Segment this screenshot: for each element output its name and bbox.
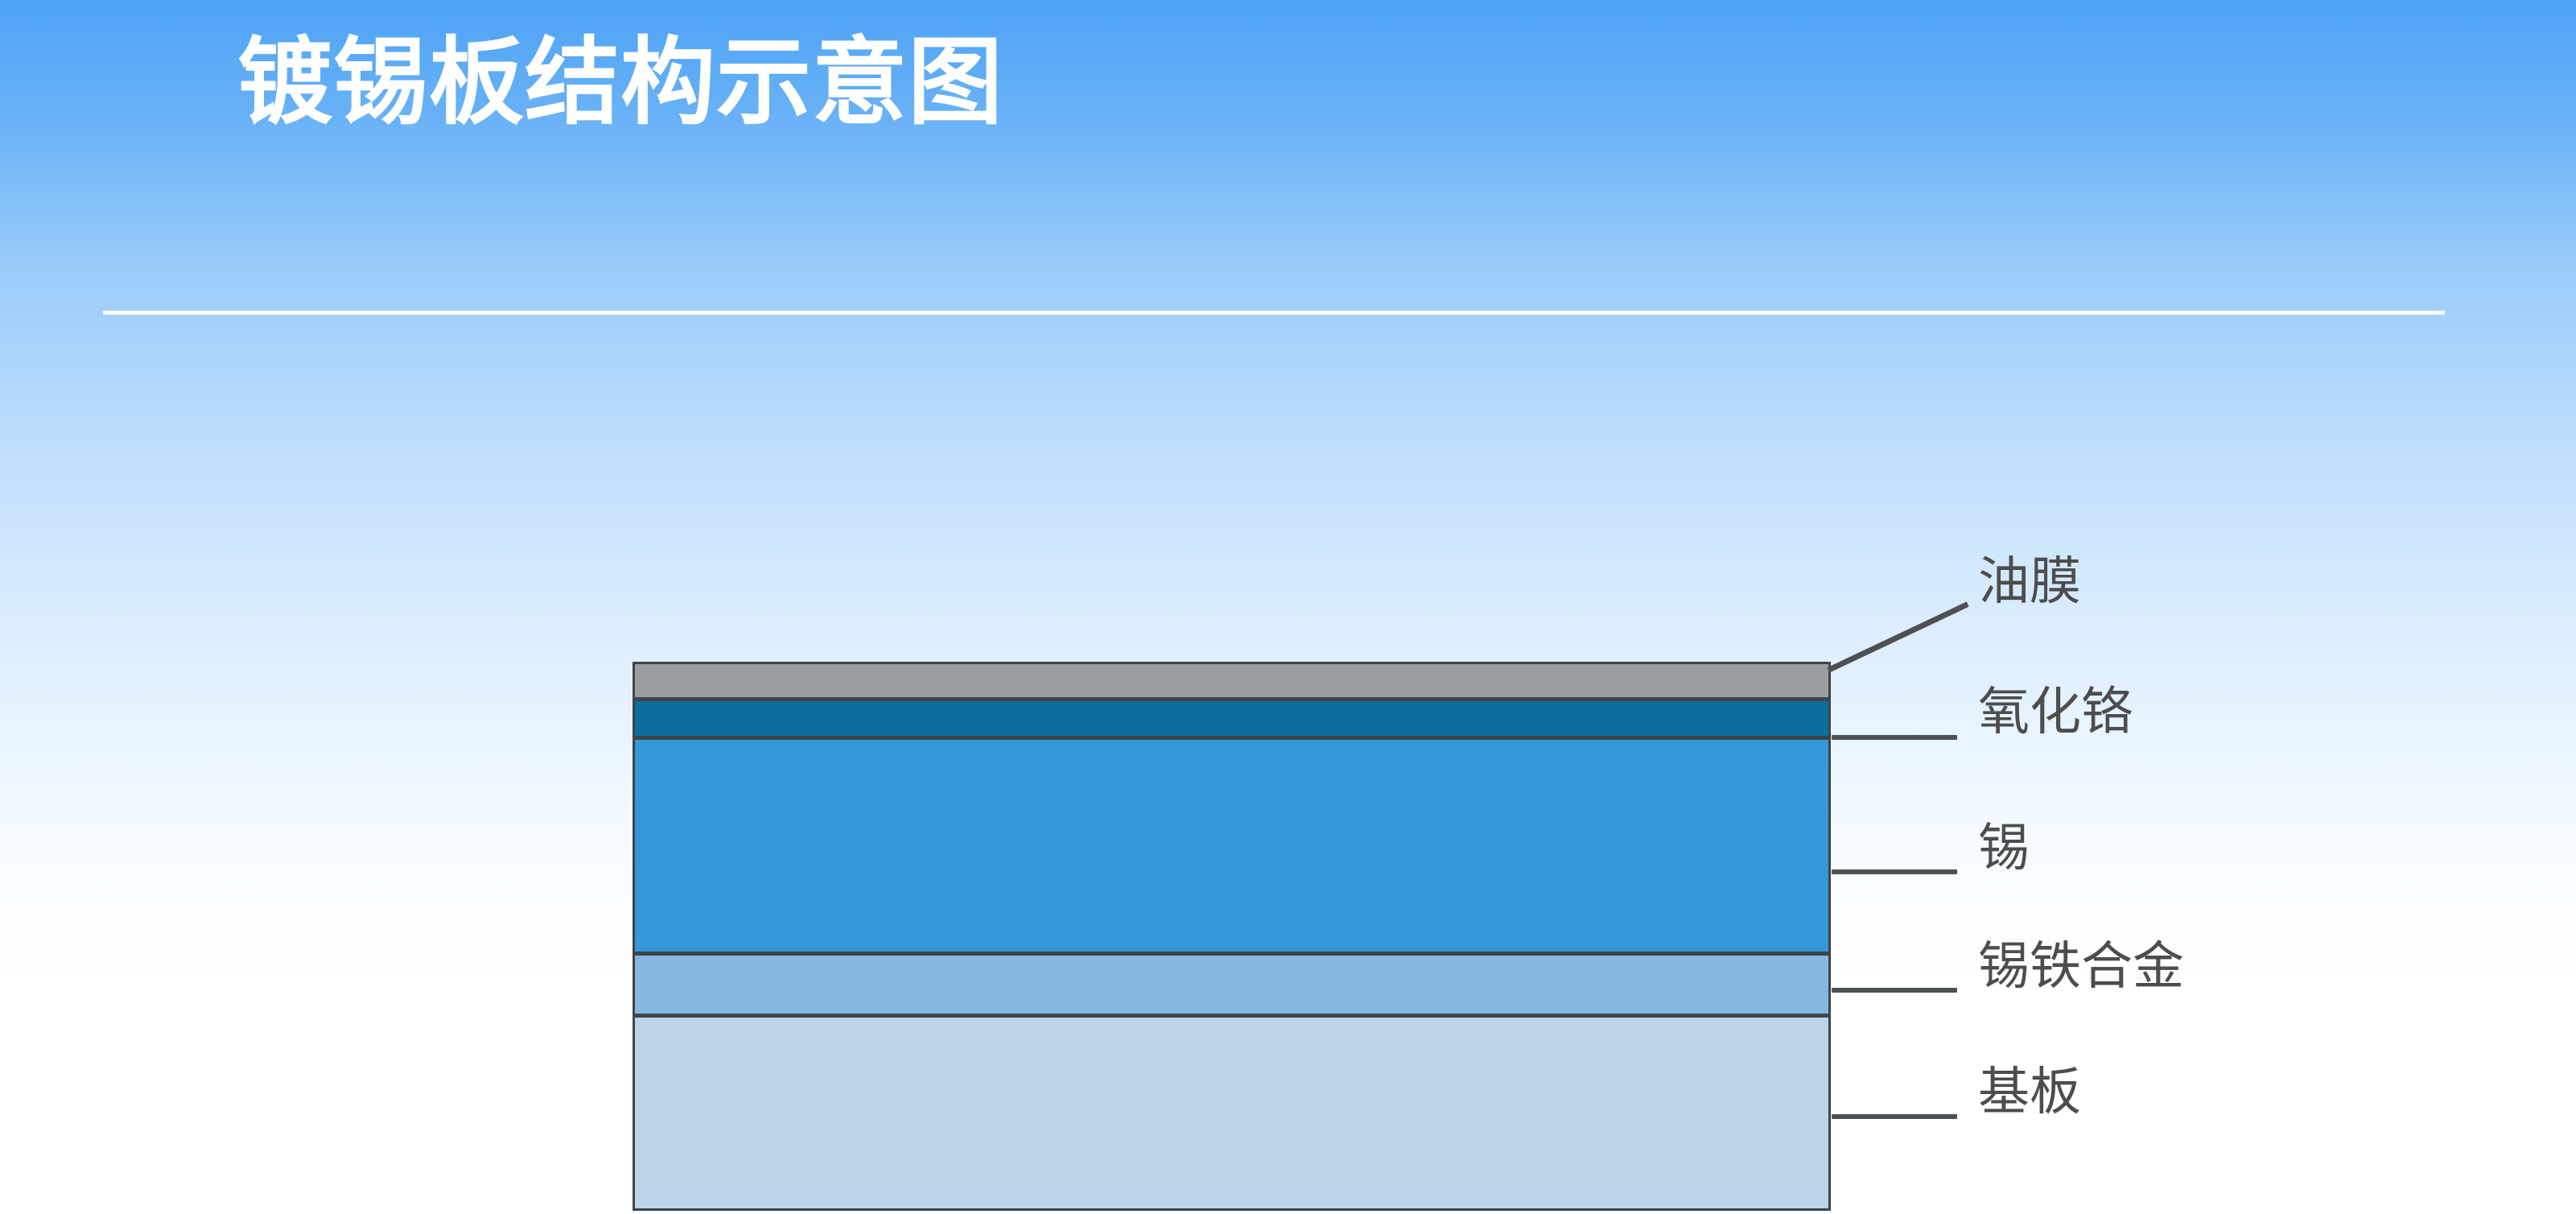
label-chromium-oxide: 氧化铬 — [1978, 686, 2133, 737]
leader-line-oil-film-icon — [1827, 597, 1972, 675]
leader-line-tin-icon — [1832, 869, 1957, 874]
leader-line-tin-iron-alloy-icon — [1832, 988, 1957, 993]
leader-line-substrate-icon — [1832, 1114, 1957, 1119]
tinplate-layer-stack — [633, 662, 1831, 1211]
slide-canvas: 镀锡板结构示意图 油膜 氧化铬 锡 锡铁合金 基板 — [0, 0, 2576, 1214]
label-tin-iron-alloy: 锡铁合金 — [1978, 940, 2184, 992]
label-substrate: 基板 — [1978, 1066, 2081, 1117]
layer-tin-iron-alloy[interactable] — [633, 953, 1831, 1016]
layer-substrate[interactable] — [633, 1015, 1831, 1211]
page-title: 镀锡板结构示意图 — [237, 35, 1004, 130]
layer-tin[interactable] — [633, 737, 1831, 954]
title-block: 镀锡板结构示意图 — [103, 18, 2445, 299]
label-tin: 锡 — [1978, 822, 2030, 873]
label-oil-film: 油膜 — [1978, 555, 2081, 607]
layer-chromium-oxide[interactable] — [633, 699, 1831, 738]
title-divider — [103, 311, 2445, 315]
leader-line-chromium-oxide-icon — [1832, 735, 1957, 740]
layer-oil-film[interactable] — [633, 662, 1831, 700]
